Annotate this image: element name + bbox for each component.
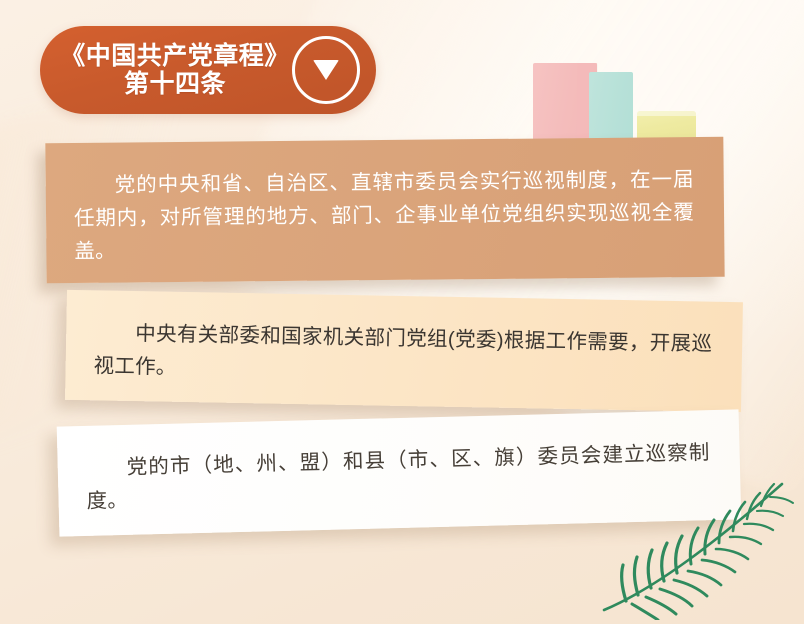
paragraph-3-text: 党的市（地、州、盟）和县（市、区、旗）委员会建立巡察制度。 [85,436,710,518]
poster-canvas: 《中国共产党章程》 第十四条 党的中央和省、自治区、直辖市委员会实行巡视制度，在… [0,0,804,624]
paragraph-1-text: 党的中央和省、自治区、直辖市委员会实行巡视制度，在一届任期内，对所管理的地方、部… [74,163,695,269]
badge-title-line1: 《中国共产党章程》 [60,42,290,70]
article-paragraph-card-3: 党的市（地、州、盟）和县（市、区、旗）委员会建立巡察制度。 [57,409,742,536]
paragraph-2-text: 中央有关部委和国家机关部门党组(党委)根据工作需要，开展巡视工作。 [93,316,712,394]
triangle-down-glyph [313,60,339,80]
article-paragraph-card-1: 党的中央和省、自治区、直辖市委员会实行巡视制度，在一届任期内，对所管理的地方、部… [45,137,724,284]
book-yellow-highlight-icon [637,111,696,116]
book-mint-icon [589,72,633,141]
article-title-badge[interactable]: 《中国共产党章程》 第十四条 [40,26,376,114]
badge-title: 《中国共产党章程》 第十四条 [60,42,292,98]
article-paragraph-card-2: 中央有关部委和国家机关部门党组(党委)根据工作需要，开展巡视工作。 [65,290,743,412]
badge-title-line2: 第十四条 [60,70,290,98]
triangle-down-icon[interactable] [292,36,360,104]
